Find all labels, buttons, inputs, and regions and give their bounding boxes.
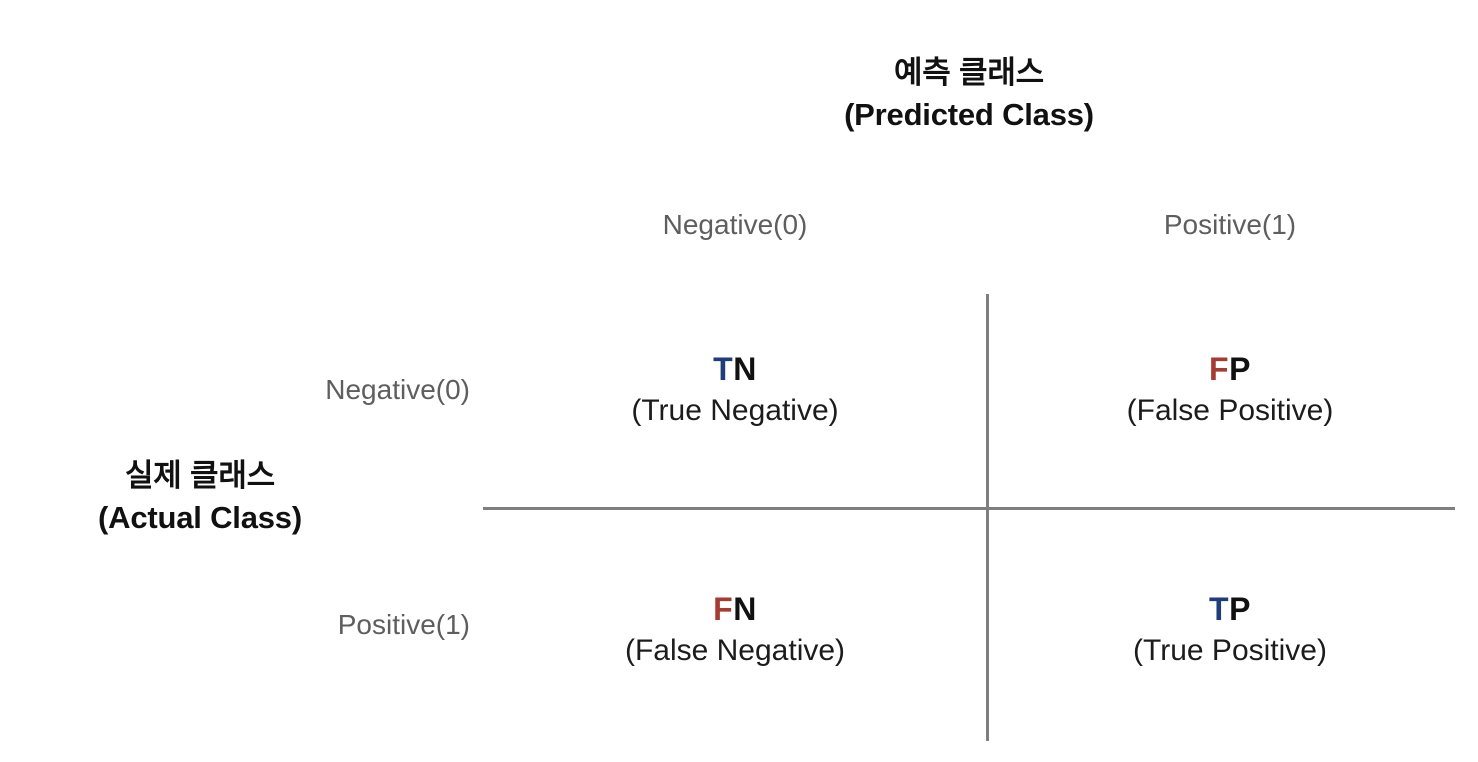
column-header-positive: Positive(1) bbox=[990, 205, 1470, 245]
quadrant-fp-abbreviation: FP bbox=[995, 348, 1465, 390]
quadrant-true-negative: TN (True Negative) bbox=[500, 348, 970, 432]
quadrant-tn-abbr-tail: N bbox=[733, 351, 757, 387]
quadrant-tp-abbr-lead: T bbox=[1209, 591, 1229, 627]
quadrant-tp-abbr-tail: P bbox=[1229, 591, 1251, 627]
predicted-class-title: 예측 클래스 (Predicted Class) bbox=[483, 52, 1455, 136]
horizontal-divider-line bbox=[483, 507, 1455, 510]
actual-class-title: 실제 클래스 (Actual Class) bbox=[0, 455, 400, 539]
quadrant-tn-full-label: (True Negative) bbox=[500, 390, 970, 432]
predicted-class-title-ko: 예측 클래스 bbox=[483, 52, 1455, 94]
quadrant-false-negative: FN (False Negative) bbox=[500, 588, 970, 672]
quadrant-true-positive: TP (True Positive) bbox=[995, 588, 1465, 672]
vertical-divider-line bbox=[986, 294, 989, 741]
quadrant-fn-abbr-lead: F bbox=[713, 591, 733, 627]
quadrant-tp-abbreviation: TP bbox=[995, 588, 1465, 630]
predicted-class-title-en: (Predicted Class) bbox=[483, 94, 1455, 136]
quadrant-tn-abbr-lead: T bbox=[713, 351, 733, 387]
quadrant-fp-abbr-tail: P bbox=[1229, 351, 1251, 387]
actual-class-title-ko: 실제 클래스 bbox=[0, 455, 400, 497]
quadrant-fn-abbreviation: FN bbox=[500, 588, 970, 630]
quadrant-fp-full-label: (False Positive) bbox=[995, 390, 1465, 432]
actual-class-title-en: (Actual Class) bbox=[0, 497, 400, 539]
column-header-negative: Negative(0) bbox=[495, 205, 975, 245]
quadrant-tp-full-label: (True Positive) bbox=[995, 630, 1465, 672]
quadrant-fn-full-label: (False Negative) bbox=[500, 630, 970, 672]
row-header-positive: Positive(1) bbox=[170, 605, 470, 645]
quadrant-false-positive: FP (False Positive) bbox=[995, 348, 1465, 432]
quadrant-tn-abbreviation: TN bbox=[500, 348, 970, 390]
row-header-negative: Negative(0) bbox=[170, 370, 470, 410]
quadrant-fn-abbr-tail: N bbox=[733, 591, 757, 627]
quadrant-fp-abbr-lead: F bbox=[1209, 351, 1229, 387]
